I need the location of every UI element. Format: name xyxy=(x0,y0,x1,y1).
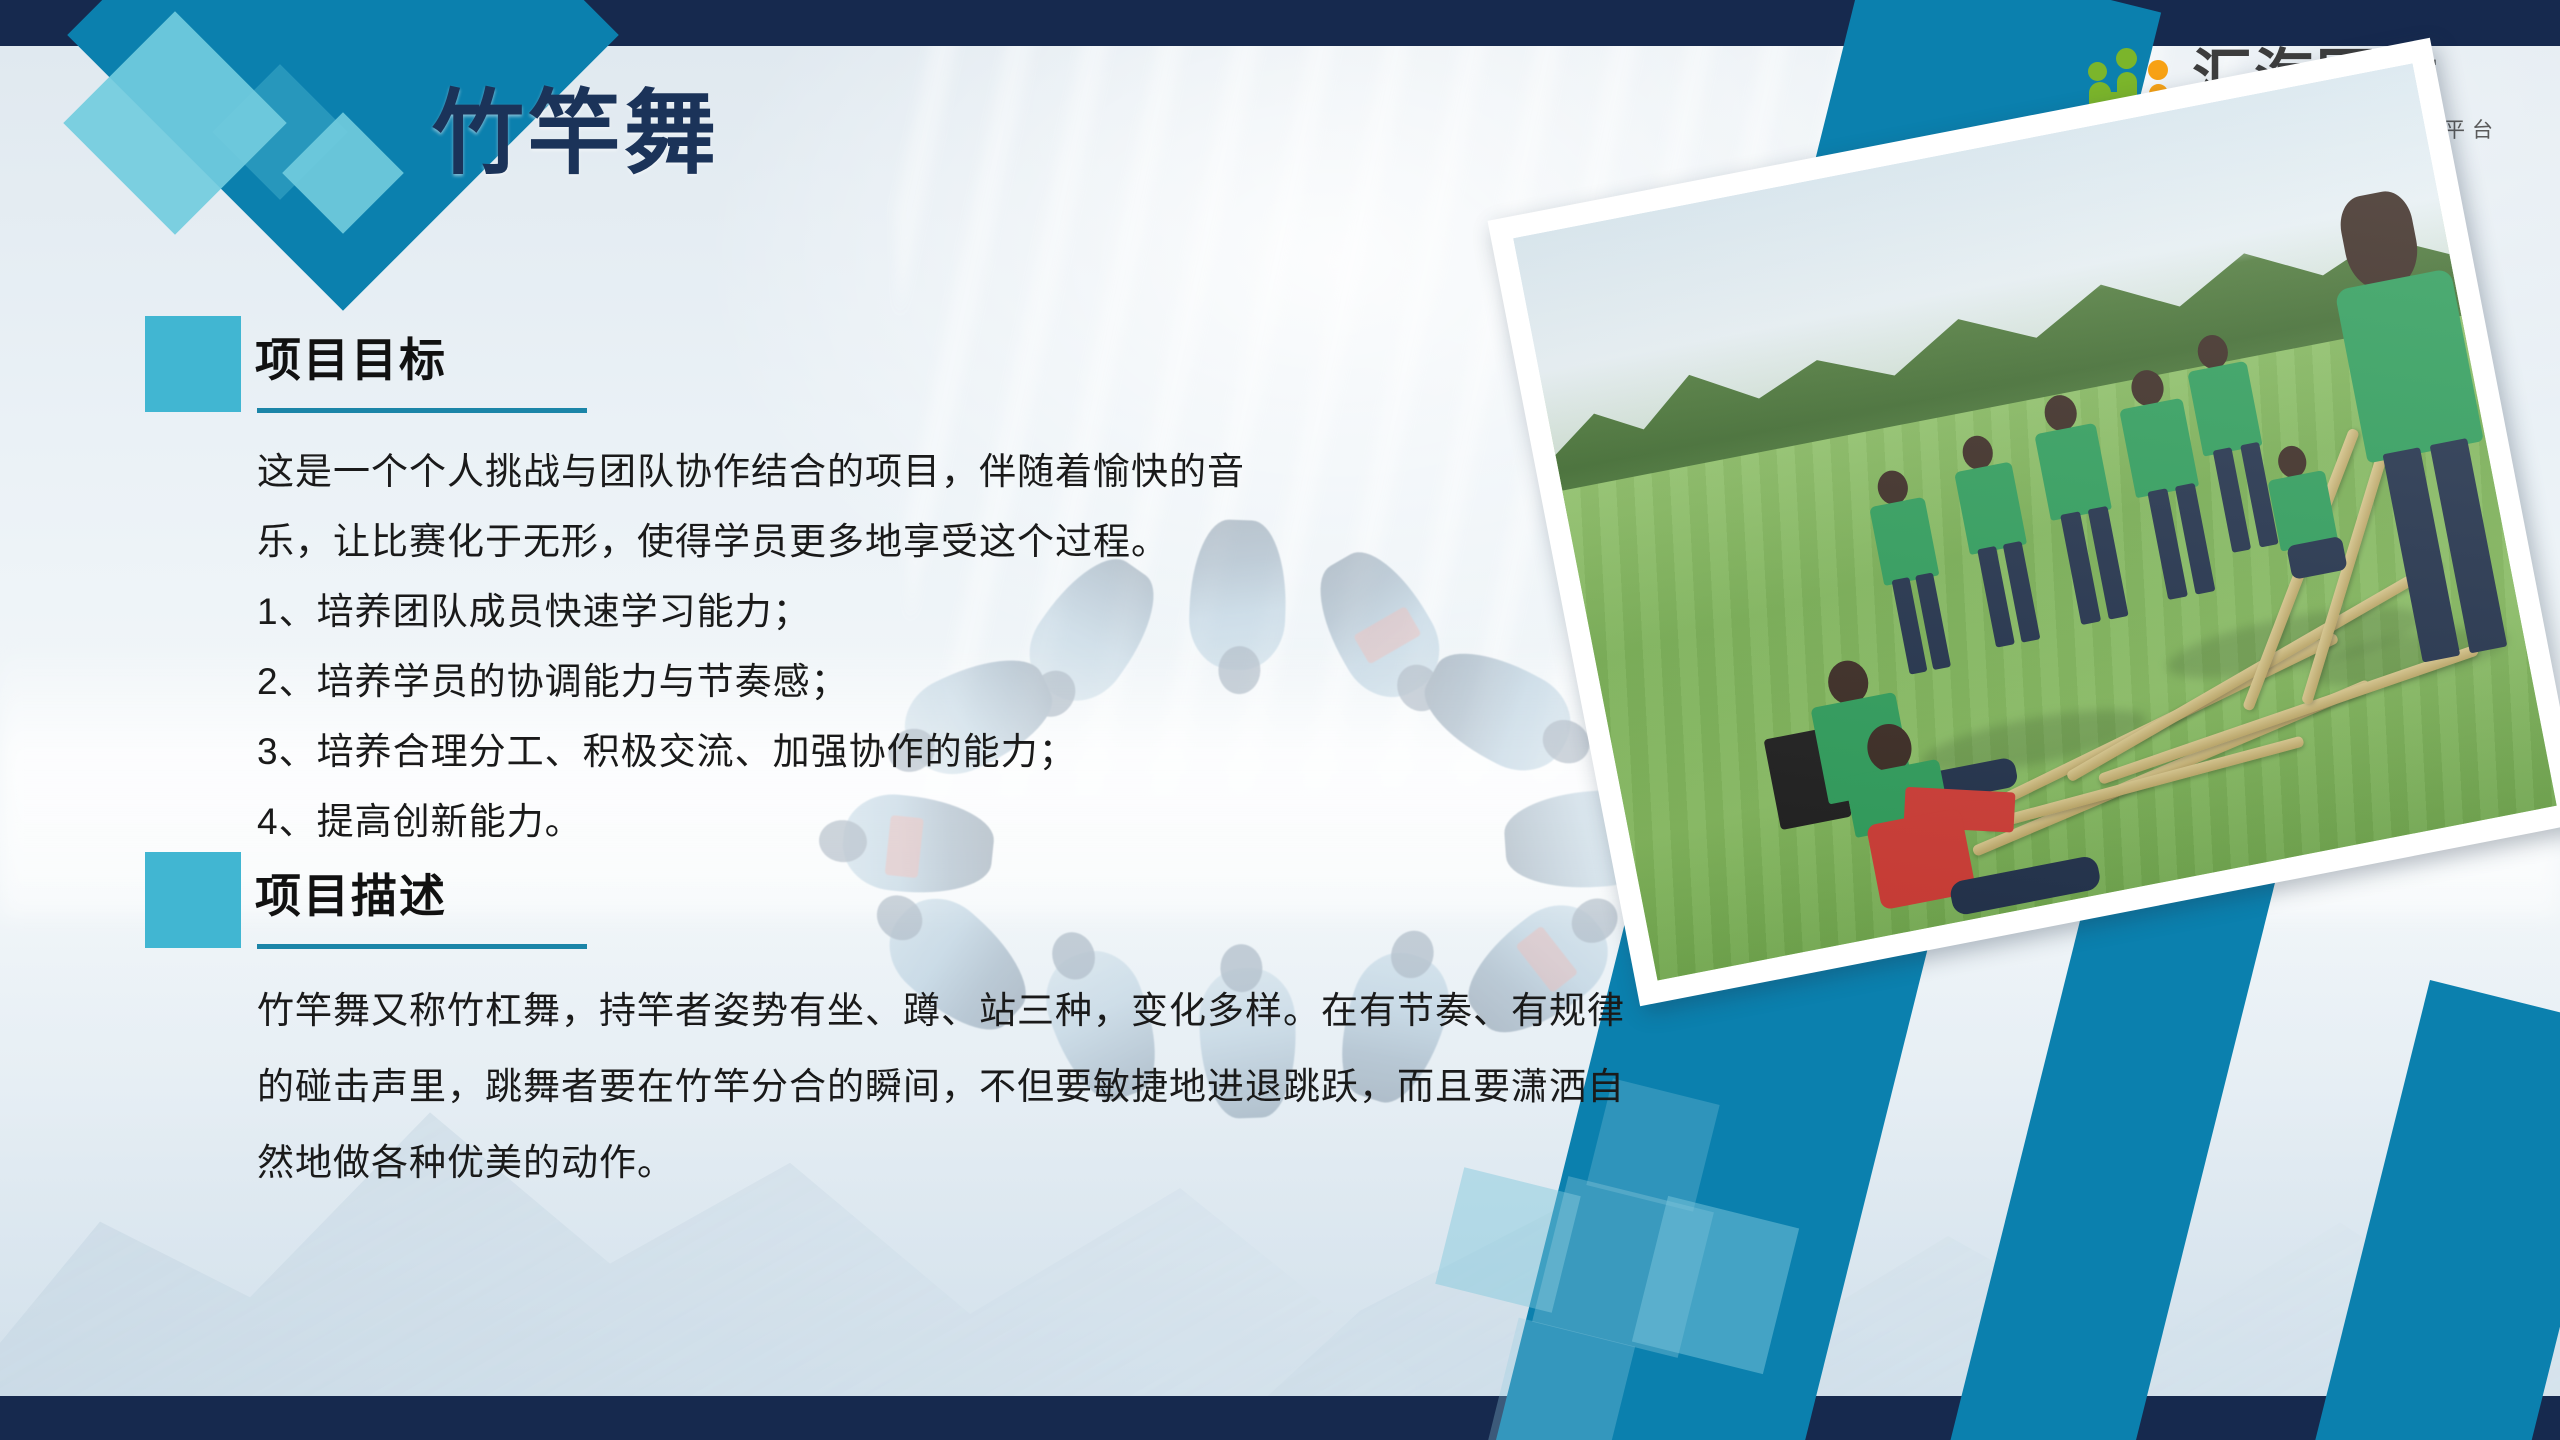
body-line: 4、提高创新能力。 xyxy=(257,792,1245,852)
presentation-slide: 竹竿舞 汇海团建 一站式企业团建采购平台 项目目标 这是一个个人挑战与团队协作结… xyxy=(0,0,2560,1440)
body-line: 2、培养学员的协调能力与节奏感； xyxy=(257,652,1245,712)
section-accent-square xyxy=(145,316,241,412)
body-line: 1、培养团队成员快速学习能力； xyxy=(257,582,1245,642)
body-line: 这是一个个人挑战与团队协作结合的项目，伴随着愉快的音 xyxy=(257,442,1245,502)
activity-photo xyxy=(1513,64,2556,981)
bottom-navy-bar xyxy=(0,1396,2560,1440)
body-line: 的碰击声里，跳舞者要在竹竿分合的瞬间，不但要敏捷地进退跳跃，而且要潇洒自 xyxy=(257,1054,1625,1120)
page-title: 竹竿舞 xyxy=(432,88,720,180)
section-accent-square xyxy=(145,852,241,948)
section-heading: 项目描述 xyxy=(255,860,447,926)
body-line: 3、培养合理分工、积极交流、加强协作的能力； xyxy=(257,722,1245,782)
body-line: 然地做各种优美的动作。 xyxy=(257,1130,1625,1196)
section-underline xyxy=(257,944,587,949)
section-underline xyxy=(257,408,587,413)
body-line: 乐，让比赛化于无形，使得学员更多地享受这个过程。 xyxy=(257,512,1245,572)
section-heading: 项目目标 xyxy=(255,324,447,390)
section-body: 竹竿舞又称竹杠舞，持竿者姿势有坐、蹲、站三种，变化多样。在有节奏、有规律 的碰击… xyxy=(257,978,1625,1206)
section-body: 这是一个个人挑战与团队协作结合的项目，伴随着愉快的音 乐，让比赛化于无形，使得学… xyxy=(257,442,1245,862)
body-line: 竹竿舞又称竹杠舞，持竿者姿势有坐、蹲、站三种，变化多样。在有节奏、有规律 xyxy=(257,978,1625,1044)
photo-lighting-overlay xyxy=(1513,64,2556,981)
